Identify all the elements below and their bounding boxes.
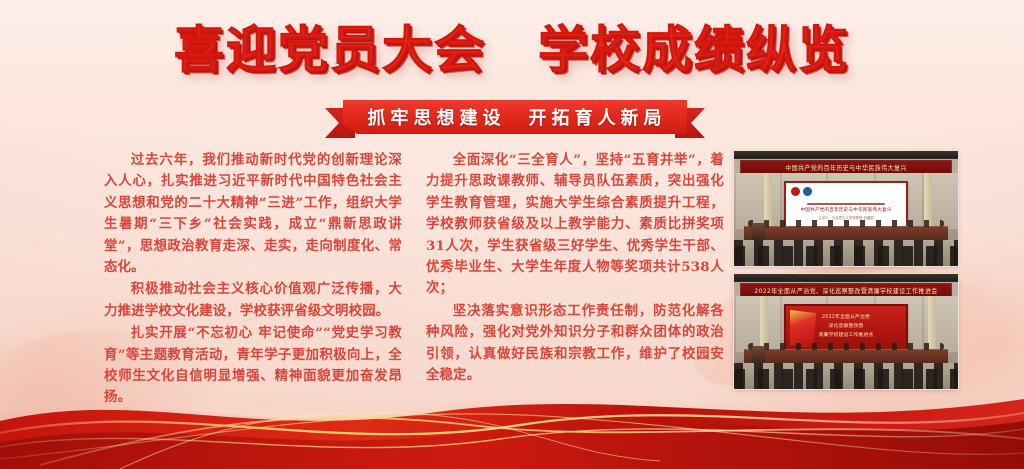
podium xyxy=(752,223,765,240)
panelists xyxy=(748,343,944,350)
podium xyxy=(752,346,765,363)
photo-gallery: 中国共产党的百年历史与中华民族伟大复兴 中国共产党的百年历史与中华民族伟大复兴 … xyxy=(733,150,957,390)
ribbon-banner: 抓牢思想建设 开拓育人新局 xyxy=(325,100,705,134)
ribbon-slogan: 抓牢思想建设 开拓育人新局 xyxy=(364,104,667,130)
wave-svg xyxy=(0,369,1024,469)
ceiling-bar xyxy=(734,274,958,281)
screen-line: 清廉学校建设工作推进会 xyxy=(819,332,874,339)
screen-line: 2022年全面从严治党 xyxy=(822,314,870,321)
university-logo-icon xyxy=(803,187,812,196)
hall-banner-text: 中国共产党的百年历史与中华民族伟大复兴 xyxy=(785,163,907,172)
paragraph: 全面深化“三全育人”，坚持“五育并举”，着力提升思政课教师、辅导员队伍素质，突出… xyxy=(426,150,724,300)
lecture-hall-scene: 中国共产党的百年历史与中华民族伟大复兴 中国共产党的百年历史与中华民族伟大复兴 … xyxy=(734,151,958,266)
paragraph: 积极推动社会主义核心价值观广泛传播，大力推进学校文化建设，学校获评省级文明校园。 xyxy=(104,279,402,322)
audience-seats xyxy=(734,240,958,266)
poster-canvas: 喜迎党员大会 学校成绩纵览 抓牢思想建设 开拓育人新局 过去六年，我们推动新时代… xyxy=(0,0,1024,469)
right-column: 全面深化“三全育人”，坚持“五育并举”，着力提升思政课教师、辅导员队伍素质，突出… xyxy=(426,150,724,396)
stage-table xyxy=(744,226,948,240)
screen-line: 深化巡察整改暨 xyxy=(829,323,864,330)
paragraph: 过去六年，我们推动新时代党的创新理论深入人心，扎实推进习近平新时代中国特色社会主… xyxy=(104,150,402,278)
body-columns: 过去六年，我们推动新时代党的创新理论深入人心，扎实推进习近平新时代中国特色社会主… xyxy=(104,150,724,396)
lecture-hall-photo[interactable]: 中国共产党的百年历史与中华民族伟大复兴 中国共产党的百年历史与中华民族伟大复兴 … xyxy=(733,150,959,267)
stage-table xyxy=(744,349,948,363)
screen-title: 中国共产党的百年历史与中华民族伟大复兴 xyxy=(800,207,891,213)
hall-banner-text: 2022年全面从严治党、深化巡察整改暨清廉学校建设工作推进会 xyxy=(754,286,937,295)
left-column: 过去六年，我们推动新时代党的创新理论深入人心，扎实推进习近平新时代中国特色社会主… xyxy=(104,150,402,396)
page-title: 喜迎党员大会 学校成绩纵览 xyxy=(174,10,850,82)
bottom-wave-decoration xyxy=(0,369,1024,469)
poster-title-area: 喜迎党员大会 学校成绩纵览 xyxy=(0,6,1024,86)
emblem-icon xyxy=(791,187,800,196)
ceiling-bar xyxy=(734,151,958,158)
ribbon-band: 抓牢思想建设 开拓育人新局 xyxy=(343,100,687,134)
panelists xyxy=(748,220,944,227)
